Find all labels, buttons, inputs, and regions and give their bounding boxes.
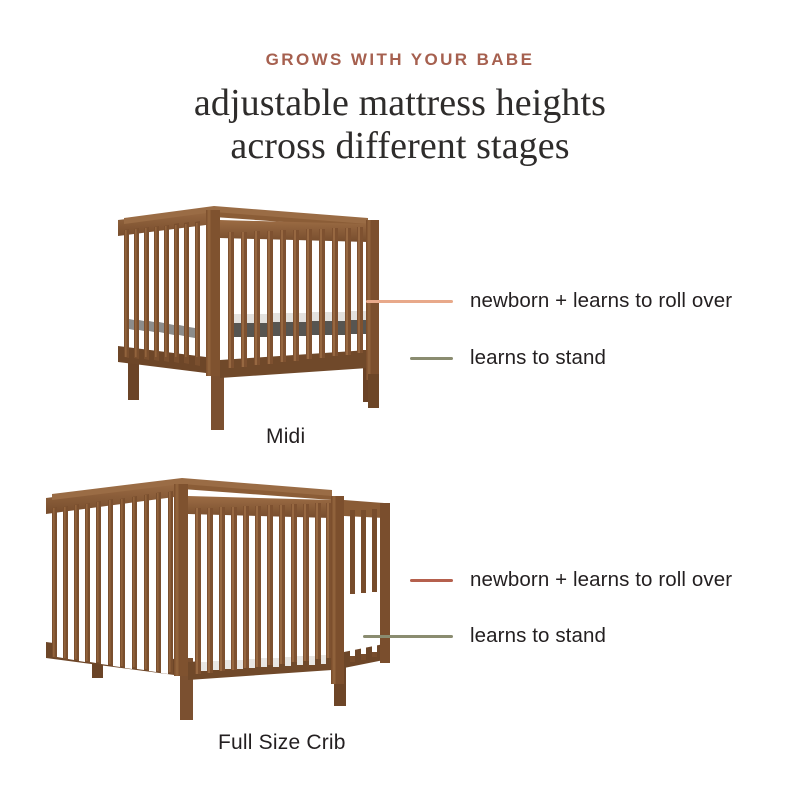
full-size-crib-illustration [32, 472, 412, 722]
midi-callout-newborn: newborn + learns to roll over [366, 288, 732, 314]
full-crib-svg [32, 472, 412, 722]
page-title-line-2: across different stages [0, 125, 800, 168]
midi-callout-stand: learns to stand [410, 345, 606, 371]
midi-crib-svg [110, 198, 400, 438]
full-callout-stand: learns to stand [363, 623, 606, 649]
full-stand-connector [363, 635, 453, 638]
midi-stand-connector [410, 357, 453, 360]
full-callout-newborn: newborn + learns to roll over [410, 567, 732, 593]
full-newborn-connector [410, 579, 453, 582]
page-title: adjustable mattress heights across diffe… [0, 82, 800, 168]
page-title-line-1: adjustable mattress heights [194, 82, 606, 124]
midi-newborn-connector [366, 300, 453, 303]
eyebrow-text: GROWS WITH YOUR BABE [0, 50, 800, 70]
midi-caption: Midi [266, 425, 305, 449]
full-stand-label: learns to stand [470, 624, 606, 648]
full-newborn-label: newborn + learns to roll over [470, 568, 732, 592]
midi-crib-illustration [110, 198, 400, 438]
midi-newborn-label: newborn + learns to roll over [470, 289, 732, 313]
full-size-crib-caption: Full Size Crib [218, 731, 346, 755]
infographic-page: GROWS WITH YOUR BABE adjustable mattress… [0, 0, 800, 800]
midi-stand-label: learns to stand [470, 346, 606, 370]
